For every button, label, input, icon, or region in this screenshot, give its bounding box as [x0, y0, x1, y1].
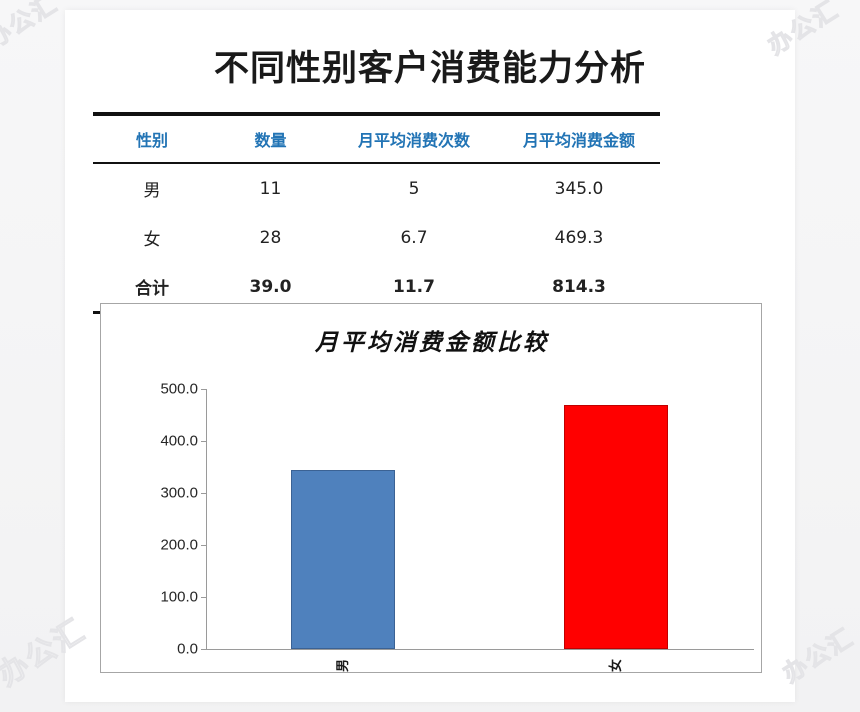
table-cell: 28: [211, 213, 330, 262]
y-axis-tick-label: 400.0: [132, 433, 198, 450]
bar-女[interactable]: [564, 405, 668, 649]
table-header-cell: 月平均消费次数: [330, 114, 498, 163]
table-cell: 5: [330, 163, 498, 213]
y-axis-tick-label: 100.0: [132, 589, 198, 606]
x-axis-line: [206, 649, 754, 650]
table-row: 女 28 6.7 469.3: [93, 213, 660, 262]
table-header-cell: 数量: [211, 114, 330, 163]
table-header: 性别 数量 月平均消费次数 月平均消费金额: [93, 114, 660, 163]
consumption-table: 性别 数量 月平均消费次数 月平均消费金额 男 11 5 345.0 女 28 …: [93, 112, 660, 314]
table-header-cell: 月平均消费金额: [498, 114, 660, 163]
table-cell: 6.7: [330, 213, 498, 262]
y-axis-tick-mark: [201, 649, 206, 650]
screenshot-root: 办公汇 办公汇 办公汇 办公汇 不同性别客户消费能力分析 性别 数量 月平均消费…: [0, 0, 860, 712]
chart-title: 月平均消费金额比较: [101, 323, 763, 357]
y-axis-tick-label: 500.0: [132, 381, 198, 398]
table-cell: 469.3: [498, 213, 660, 262]
bar-男[interactable]: [291, 470, 395, 649]
table-cell: 女: [93, 213, 211, 262]
plot-area: [206, 389, 753, 649]
y-axis-tick-label: 0.0: [132, 641, 198, 658]
table-cell: 男: [93, 163, 211, 213]
document-page: 不同性别客户消费能力分析 性别 数量 月平均消费次数 月平均消费金额 男 11 …: [65, 10, 795, 702]
x-axis-tick-label: 女: [605, 659, 624, 672]
table-cell: 345.0: [498, 163, 660, 213]
table-body: 男 11 5 345.0 女 28 6.7 469.3 合计 39.0 11.7…: [93, 163, 660, 313]
y-axis-tick-label: 300.0: [132, 485, 198, 502]
x-axis-tick-label: 男: [332, 659, 351, 672]
y-axis-tick-label: 200.0: [132, 537, 198, 554]
table-cell: 11: [211, 163, 330, 213]
table-header-row: 性别 数量 月平均消费次数 月平均消费金额: [93, 114, 660, 163]
table-header-cell: 性别: [93, 114, 211, 163]
table-row: 男 11 5 345.0: [93, 163, 660, 213]
bar-chart: 月平均消费金额比较 500.0400.0300.0200.0100.00.0 男…: [100, 303, 762, 673]
watermark: 办公汇: [0, 0, 63, 55]
page-title: 不同性别客户消费能力分析: [65, 40, 795, 91]
